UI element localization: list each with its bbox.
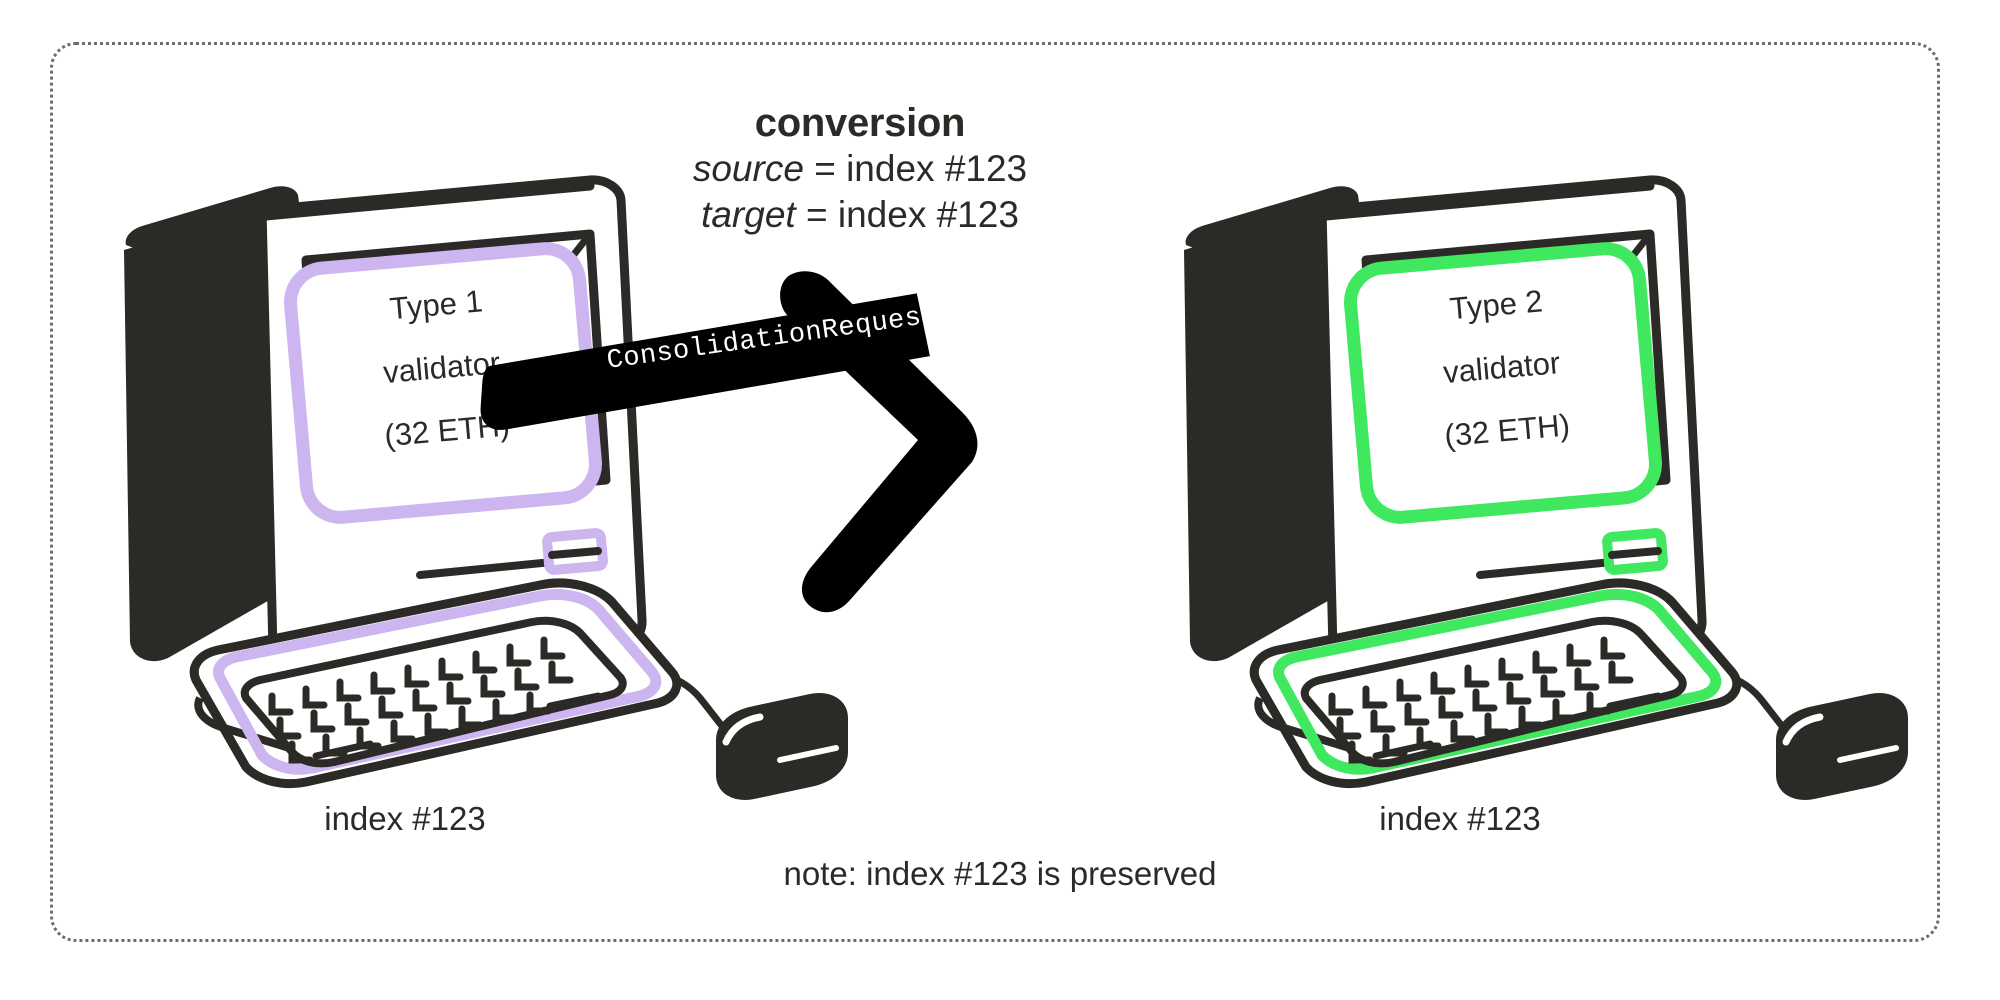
source-value: = index #123	[804, 148, 1027, 189]
conversion-arrow-group: ConsolidationRequest	[600, 300, 1160, 570]
left-index-caption: index #123	[195, 800, 615, 838]
right-computer-illustration: Type 2 validator (32 ETH)	[1184, 180, 1904, 796]
mouse-body	[1780, 697, 1904, 796]
floppy-slot-inner	[552, 551, 598, 555]
right-validator-computer: Type 2 validator (32 ETH)	[1180, 150, 1880, 770]
header-title: conversion	[560, 100, 1160, 146]
floppy-slot-inner	[1612, 551, 1658, 555]
mouse-body	[720, 697, 844, 796]
right-index-caption: index #123	[1250, 800, 1670, 838]
target-value: = index #123	[796, 194, 1019, 235]
diagram-canvas: conversion source = index #123 target = …	[0, 0, 2000, 1000]
footer-note: note: index #123 is preserved	[500, 855, 1500, 893]
